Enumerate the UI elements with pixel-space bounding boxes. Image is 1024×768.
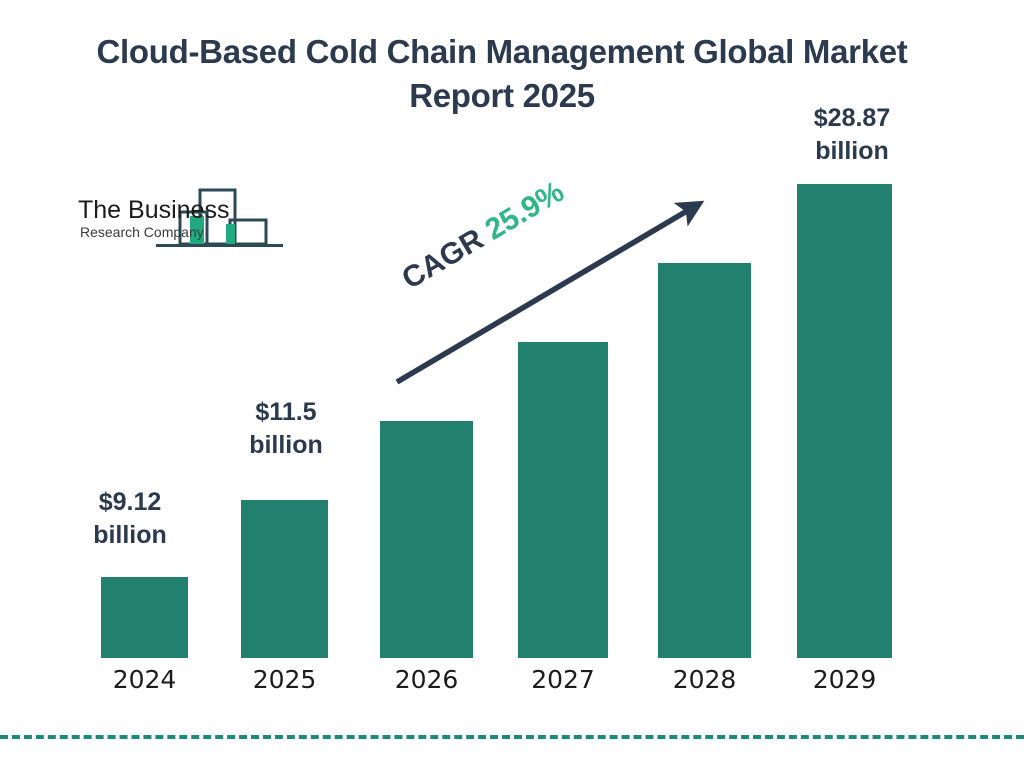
- value-label-2025: $11.5 billion: [224, 396, 348, 462]
- bar-2024: [101, 577, 188, 658]
- x-tick-2027: 2027: [493, 665, 633, 694]
- x-tick-2025: 2025: [215, 665, 355, 694]
- x-tick-2029: 2029: [775, 665, 915, 694]
- value-label-2029: $28.87 billion: [790, 102, 914, 168]
- x-tick-2024: 2024: [75, 665, 215, 694]
- x-tick-2028: 2028: [635, 665, 775, 694]
- chart-canvas: Cloud-Based Cold Chain Management Global…: [0, 0, 1024, 768]
- value-label-2024: $9.12 billion: [68, 486, 192, 552]
- footer-divider: [0, 735, 1024, 739]
- x-tick-2026: 2026: [357, 665, 497, 694]
- bar-2025: [241, 500, 328, 658]
- bar-2026: [380, 421, 473, 658]
- bar-2029: [797, 184, 892, 658]
- cagr-arrow-icon: [380, 185, 720, 400]
